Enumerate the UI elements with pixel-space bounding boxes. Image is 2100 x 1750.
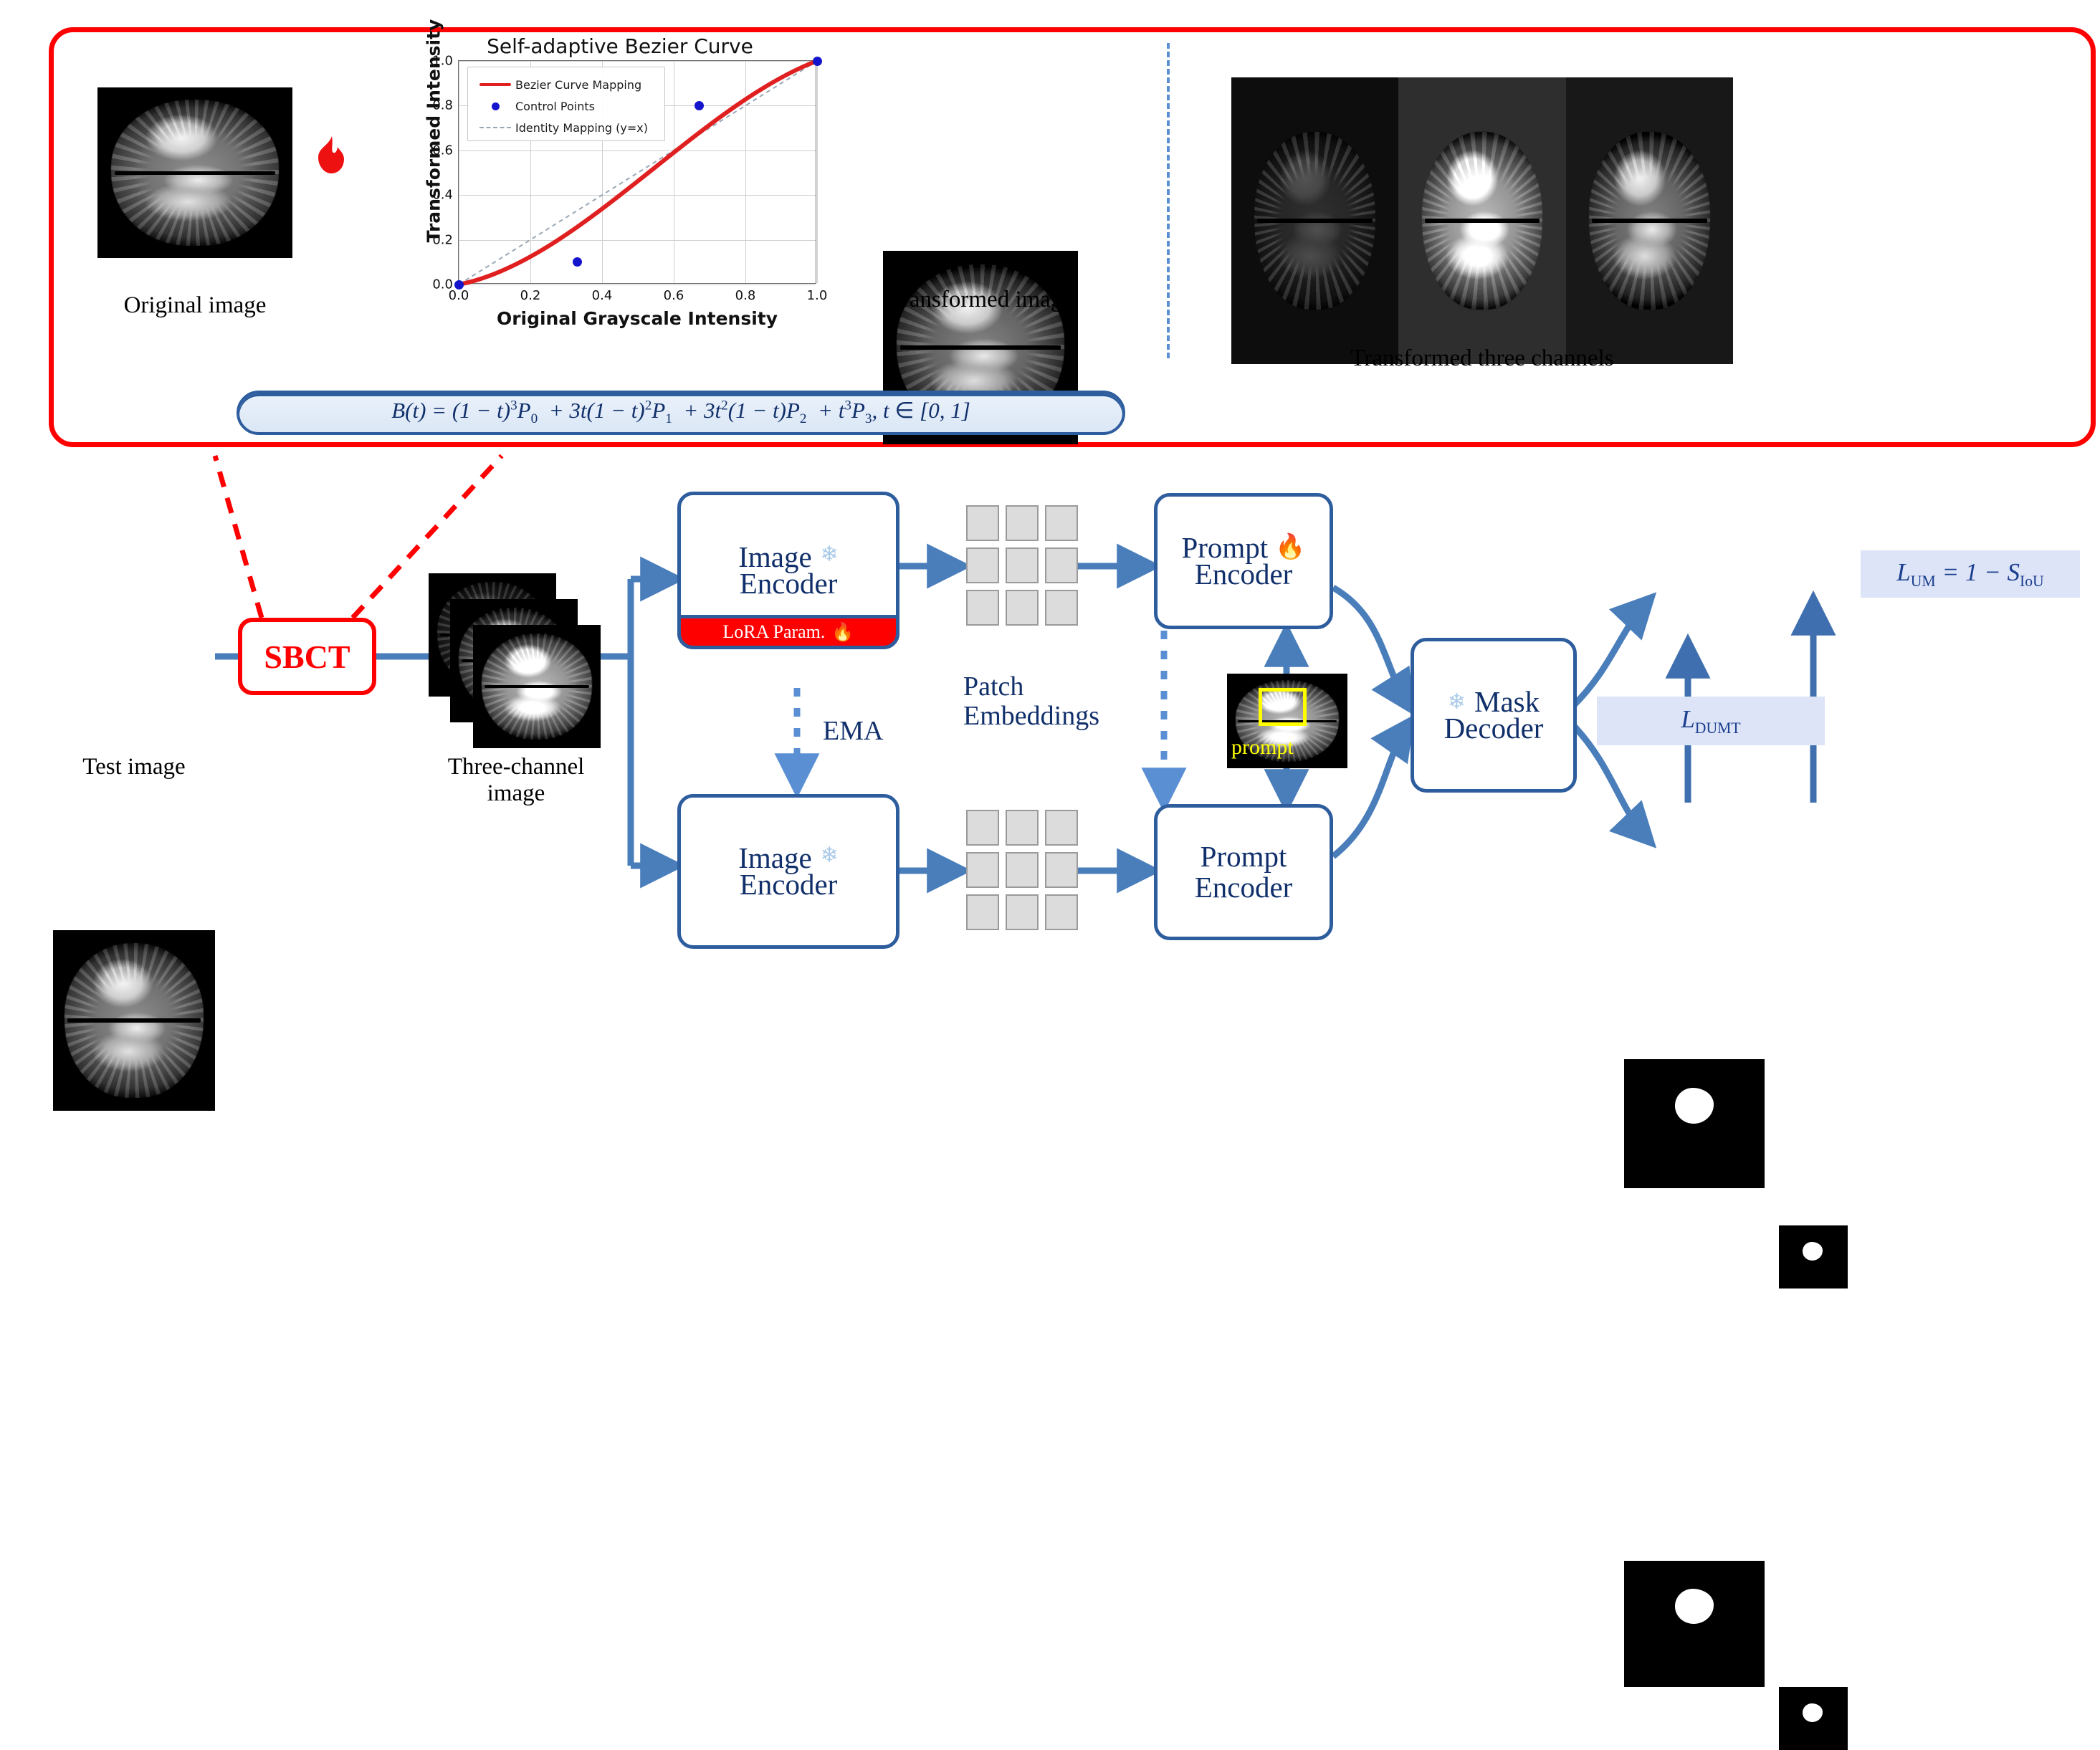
- image-encoder-teacher-line2: Encoder: [740, 869, 838, 900]
- gridline-horizontal: [459, 240, 816, 241]
- legend-line-swatch: [475, 83, 515, 86]
- loss-dumt-badge: LDUMT: [1597, 697, 1825, 745]
- panel-divider: [1167, 43, 1170, 358]
- gridline-vertical: [674, 61, 674, 283]
- patch-embeddings-student: [966, 505, 1078, 626]
- channel-2: [1398, 77, 1565, 364]
- three-channels-caption: Transformed three channels: [1231, 345, 1733, 372]
- sbct-button[interactable]: SBCT: [238, 618, 376, 695]
- x-tick-label: 1.0: [807, 288, 828, 303]
- gridline-horizontal: [459, 61, 816, 62]
- lora-param-badge[interactable]: LoRA Param. 🔥: [677, 615, 899, 649]
- mask-decoder[interactable]: ❄ Mask Decoder: [1411, 638, 1577, 793]
- chart-y-axis-label: Transformed Intensity: [424, 16, 444, 246]
- patch-caption-line1: Patch: [963, 672, 1099, 702]
- mask-decoder-line2: Decoder: [1444, 713, 1544, 744]
- loss-dumt-label: LDUMT: [1681, 705, 1740, 737]
- control-point-P0: [454, 280, 464, 290]
- snowflake-icon: ❄: [821, 843, 839, 868]
- bezier-formula-text: B(t) = (1 − t)3P0 + 3t(1 − t)2P1 + 3t2(1…: [391, 398, 970, 427]
- three-channel-image-stack: [429, 573, 601, 745]
- output-mask-small-top: [1779, 1225, 1848, 1288]
- snowflake-icon: ❄: [821, 542, 839, 567]
- test-image: [53, 930, 215, 1111]
- three-channels-strip: [1231, 77, 1733, 364]
- gridline-vertical: [459, 61, 459, 283]
- prompt-encoder-top[interactable]: Prompt 🔥 Encoder: [1154, 493, 1333, 629]
- legend-label-points: Control Points: [515, 100, 595, 113]
- y-tick-label: 0.4: [432, 188, 453, 203]
- image-encoder-student-line2: Encoder: [740, 568, 838, 599]
- patch-embeddings-teacher: [966, 810, 1078, 930]
- lora-param-label: LoRA Param.: [722, 621, 825, 643]
- y-tick-label: 0.8: [432, 98, 453, 113]
- three-channel-caption-line1: Three-channel: [409, 754, 624, 780]
- y-tick-label: 1.0: [432, 54, 453, 69]
- x-tick-label: 0.6: [664, 288, 684, 303]
- gridline-vertical: [817, 61, 818, 283]
- legend-label-identity: Identity Mapping (y=x): [515, 121, 648, 135]
- patch-caption-line2: Embeddings: [963, 702, 1099, 731]
- flame-icon: [312, 135, 345, 176]
- prompt-encoder-bottom[interactable]: Prompt Encoder: [1154, 804, 1333, 940]
- arrow-decoder-to-mask-top: [1573, 601, 1648, 706]
- prompt-label: prompt: [1228, 735, 1347, 760]
- x-tick-label: 0.4: [592, 288, 613, 303]
- gridline-horizontal: [459, 150, 816, 151]
- original-image: [97, 87, 292, 258]
- transformed-image-caption: Transformed image: [847, 287, 1114, 313]
- chart-legend: Bezier Curve Mapping Control Points Iden…: [467, 67, 665, 141]
- snowflake-icon: ❄: [1448, 689, 1466, 714]
- image-encoder-teacher[interactable]: Image ❄ Encoder: [677, 794, 899, 949]
- prompt-bounding-box[interactable]: [1259, 688, 1307, 726]
- output-mask-large-top: [1624, 1059, 1765, 1188]
- legend-entry-points: Control Points: [475, 95, 657, 117]
- gridline-horizontal: [459, 285, 816, 285]
- flame-icon: 🔥: [831, 622, 854, 643]
- output-mask-large-bottom: [1624, 1561, 1765, 1687]
- patch-embeddings-caption: Patch Embeddings: [963, 672, 1099, 731]
- legend-dash-swatch: [475, 127, 515, 128]
- legend-label-curve: Bezier Curve Mapping: [515, 78, 641, 92]
- x-tick-label: 0.8: [735, 288, 756, 303]
- bezier-chart: Self-adaptive Bezier Curve Transformed I…: [391, 34, 849, 335]
- x-tick-label: 0.2: [520, 288, 541, 303]
- gridline-horizontal: [459, 195, 816, 196]
- legend-entry-curve: Bezier Curve Mapping: [475, 74, 657, 95]
- prompt-encoder-bottom-line1: Prompt: [1201, 841, 1287, 872]
- ema-label: EMA: [823, 717, 883, 746]
- gridline-vertical: [745, 61, 746, 283]
- channel-1: [1231, 77, 1398, 364]
- control-point-P2: [695, 101, 704, 110]
- three-channel-caption-line2: image: [409, 780, 624, 807]
- bezier-formula-pill: B(t) = (1 − t)3P0 + 3t(1 − t)2P1 + 3t2(1…: [237, 391, 1125, 435]
- chart-x-axis-label: Original Grayscale Intensity: [422, 308, 852, 329]
- loss-um-badge: LUM = 1 − SIoU: [1861, 550, 2080, 598]
- chart-title: Self-adaptive Bezier Curve: [391, 34, 849, 58]
- y-tick-label: 0.2: [432, 232, 453, 247]
- x-tick-label: 0.0: [449, 288, 469, 303]
- control-point-P1: [573, 257, 582, 267]
- figure-canvas: Original image Self-adaptive Bezier Curv…: [0, 0, 2100, 965]
- legend-entry-identity: Identity Mapping (y=x): [475, 117, 657, 138]
- y-tick-label: 0.6: [432, 143, 453, 158]
- prompt-image[interactable]: prompt: [1227, 674, 1347, 768]
- prompt-encoder-bottom-line2: Encoder: [1195, 872, 1293, 903]
- sbct-label: SBCT: [264, 638, 350, 676]
- image-encoder-student[interactable]: Image ❄ Encoder LoRA Param. 🔥: [677, 492, 899, 649]
- legend-dot-swatch: [475, 102, 515, 110]
- prompt-encoder-top-line2: Encoder: [1195, 559, 1293, 590]
- original-image-caption: Original image: [69, 292, 321, 319]
- three-channel-caption: Three-channel image: [409, 754, 624, 807]
- loss-um-label: LUM = 1 − SIoU: [1896, 558, 2043, 590]
- control-point-P3: [813, 57, 822, 66]
- test-image-caption: Test image: [32, 754, 237, 780]
- output-mask-small-bottom: [1779, 1687, 1848, 1750]
- chart-plot-area: 0.00.20.40.60.81.00.00.20.40.60.81.0 Bez…: [458, 60, 816, 284]
- channel-3: [1566, 77, 1733, 364]
